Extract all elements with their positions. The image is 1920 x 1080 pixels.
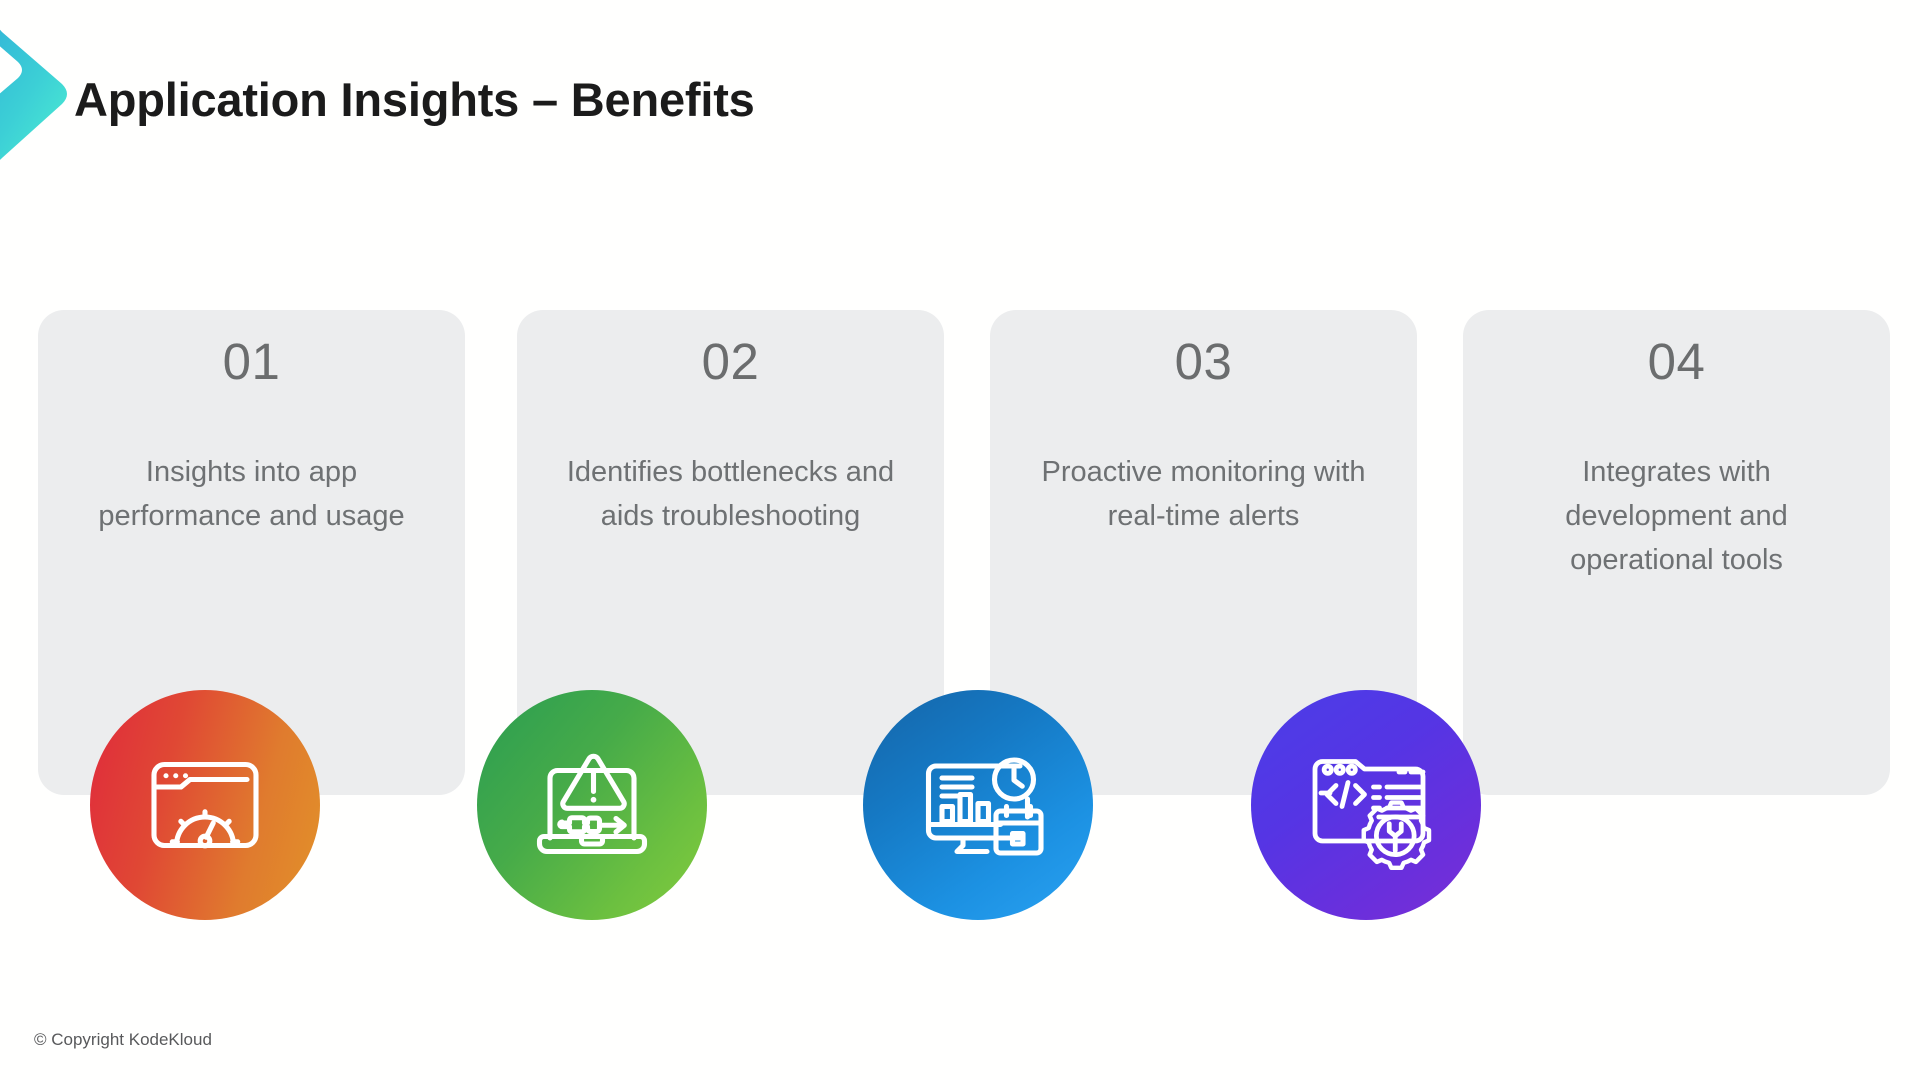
page-title: Application Insights – Benefits <box>74 72 755 127</box>
code-window-gear-wrench-icon <box>1251 690 1481 920</box>
card-description: Insights into app performance and usage <box>76 450 427 538</box>
monitor-chart-clock-calendar-icon <box>863 690 1093 920</box>
card-description: Identifies bottlenecks and aids troubles… <box>555 450 906 538</box>
card-description: Proactive monitoring with real-time aler… <box>1028 450 1379 538</box>
card-number: 02 <box>517 332 944 391</box>
slide-root: Application Insights – Benefits 01 Insig… <box>0 0 1920 1080</box>
benefit-card-04[interactable]: 04 Integrates with development and opera… <box>1463 310 1890 795</box>
card-number: 01 <box>38 332 465 391</box>
laptop-warning-screwdriver-icon <box>477 690 707 920</box>
card-description: Integrates with development and operatio… <box>1501 450 1852 582</box>
browser-speedometer-icon <box>90 690 320 920</box>
chevron-logo-icon <box>0 20 76 168</box>
card-number: 04 <box>1463 332 1890 391</box>
card-number: 03 <box>990 332 1417 391</box>
footer-copyright: © Copyright KodeKloud <box>34 1030 212 1050</box>
